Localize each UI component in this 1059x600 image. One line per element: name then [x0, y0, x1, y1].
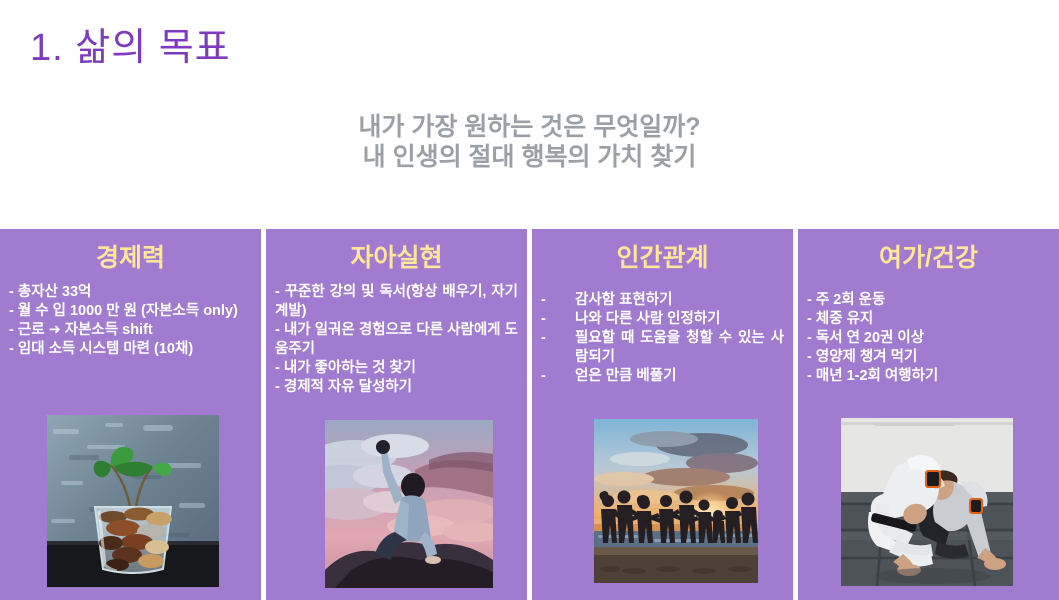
card-title: 인간관계 — [532, 243, 793, 273]
list-item: - 총자산 33억 — [9, 283, 252, 302]
slide-subtitle: 내가 가장 원하는 것은 무엇일까? 내 인생의 절대 행복의 가치 찾기 — [0, 112, 1059, 172]
subtitle-line-1: 내가 가장 원하는 것은 무엇일까? — [0, 112, 1059, 142]
list-item: -필요할 때 도움을 청할 수 있는 사람되기 — [541, 329, 784, 367]
list-item: - 매년 1-2회 여행하기 — [807, 367, 1050, 386]
list-item: - 근로 ➜ 자본소득 shift — [9, 321, 252, 340]
bullet-marker: - — [541, 367, 575, 386]
page-title: 1. 삶의 목표 — [30, 16, 231, 71]
list-item: - 독서 연 20권 이상 — [807, 329, 1050, 348]
card-bullet-list: -감사함 표현하기 -나와 다른 사람 인정하기 -필요할 때 도움을 청할 수… — [541, 291, 784, 386]
list-item: - 꾸준한 강의 및 독서(항상 배우기, 자기계발) — [275, 283, 518, 321]
list-item-label: 감사함 표현하기 — [575, 292, 672, 308]
list-item-label: 나와 다른 사람 인정하기 — [575, 311, 721, 327]
card-bullet-list: - 꾸준한 강의 및 독서(항상 배우기, 자기계발) - 내가 일궈온 경험으… — [275, 283, 518, 397]
list-item: -감사함 표현하기 — [541, 291, 784, 310]
beach-sunset-group-photo — [594, 419, 758, 583]
card-title: 자아실현 — [266, 243, 527, 273]
list-item: - 영양제 챙겨 먹기 — [807, 348, 1050, 367]
bullet-marker: - — [541, 310, 575, 329]
list-item: - 월 수 입 1000 만 원 (자본소득 only) — [9, 302, 252, 321]
card-title: 경제력 — [0, 243, 261, 273]
bullet-marker: - — [541, 329, 575, 348]
subtitle-line-2: 내 인생의 절대 행복의 가치 찾기 — [0, 142, 1059, 172]
list-item: - 임대 소득 시스템 마련 (10채) — [9, 340, 252, 359]
jiujitsu-training-photo — [841, 418, 1013, 586]
list-item: - 주 2회 운동 — [807, 291, 1050, 310]
list-item-label: 필요할 때 도움을 청할 수 있는 사람되기 — [575, 330, 784, 365]
list-item: - 경제적 자유 달성하기 — [275, 378, 518, 397]
mountain-summit-photo — [325, 420, 493, 588]
coins-jar-plant-photo — [47, 415, 219, 587]
card-title: 여가/건강 — [798, 243, 1059, 273]
list-item: -얻은 만큼 베풀기 — [541, 367, 784, 386]
list-item: - 체중 유지 — [807, 310, 1050, 329]
list-item: - 내가 좋아하는 것 찾기 — [275, 359, 518, 378]
card-bullet-list: - 총자산 33억 - 월 수 입 1000 만 원 (자본소득 only) -… — [9, 283, 252, 359]
list-item-label: 얻은 만큼 베풀기 — [575, 368, 676, 384]
list-item: - 내가 일궈온 경험으로 다른 사람에게 도움주기 — [275, 321, 518, 359]
card-bullet-list: - 주 2회 운동 - 체중 유지 - 독서 연 20권 이상 - 영양제 챙겨… — [807, 291, 1050, 386]
list-item: -나와 다른 사람 인정하기 — [541, 310, 784, 329]
bullet-marker: - — [541, 291, 575, 310]
